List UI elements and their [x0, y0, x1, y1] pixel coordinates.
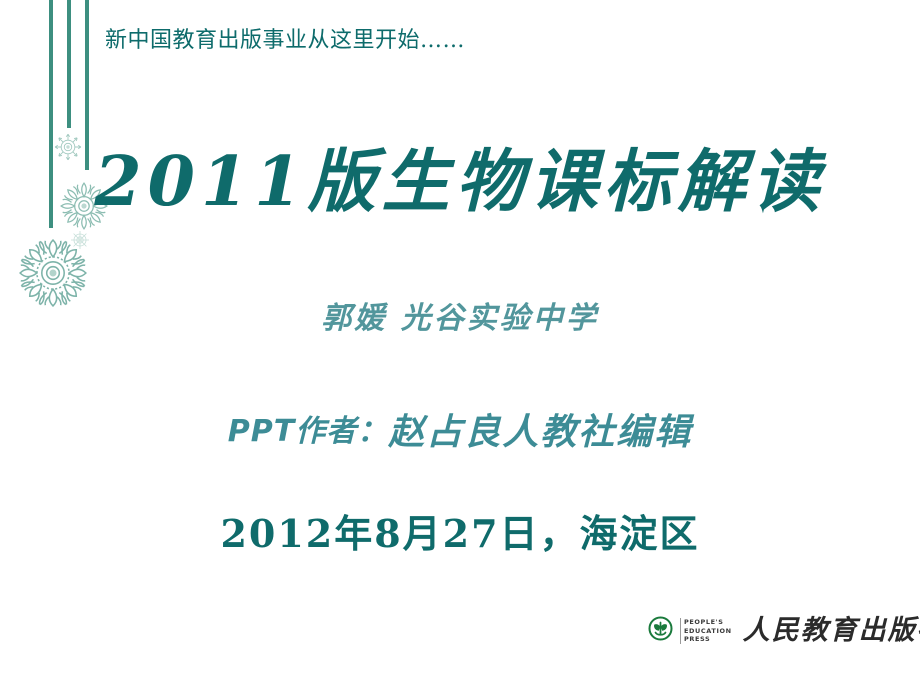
ppt-author-name: 赵占良人教社编辑 — [388, 411, 692, 453]
date-and-place: 2012年8月27日，海淀区 — [0, 508, 920, 560]
vertical-rule-middle — [67, 0, 71, 128]
slide-header-tagline: 新中国教育出版事业从这里开始…… — [105, 27, 465, 55]
peoples-education-press-emblem-icon — [648, 616, 673, 646]
press-line-3: PRESS — [684, 635, 732, 644]
press-name-chinese: 人民教育出版社 — [743, 614, 920, 648]
slide-main-title: 2011版生物课标解读 — [0, 139, 920, 225]
publisher-logo: PEOPLE'S EDUCATION PRESS 人民教育出版社 — [648, 614, 920, 648]
ppt-author-line: PPT作者：赵占良人教社编辑 — [0, 410, 920, 454]
press-line-2: EDUCATION — [684, 627, 732, 636]
press-line-1: PEOPLE'S — [684, 618, 732, 627]
ppt-author-label: PPT作者： — [228, 414, 388, 449]
presenter-name-and-school: 郭媛 光谷实验中学 — [0, 298, 920, 340]
presentation-slide: 新中国教育出版事业从这里开始…… 2011版生物课标解读 郭媛 光谷实验中学 P… — [0, 0, 920, 690]
press-name-english: PEOPLE'S EDUCATION PRESS — [680, 618, 732, 644]
